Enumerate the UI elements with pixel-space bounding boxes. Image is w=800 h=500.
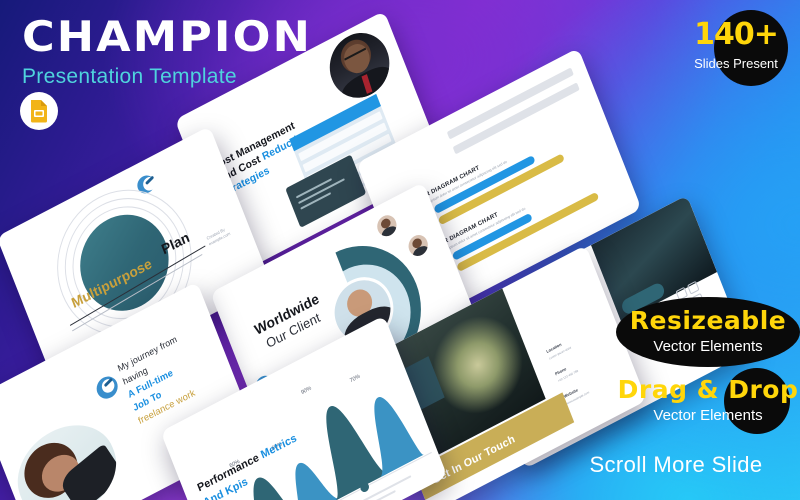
badge-resizeable: Resizeable Vector Elements xyxy=(616,297,800,367)
badge-drag-drop-sub: Vector Elements xyxy=(616,408,800,423)
badge-resizeable-sub: Vector Elements xyxy=(616,339,800,354)
badge-count-sub: Slides Present xyxy=(672,57,800,70)
badge-slides-count: 140+ Slides Present xyxy=(672,6,800,92)
badge-count-headline: 140+ xyxy=(672,6,800,50)
page-title: CHAMPION xyxy=(22,16,312,58)
brand-swoosh-icon-3 xyxy=(93,369,126,405)
brand-block: CHAMPION Presentation Template xyxy=(22,16,296,89)
google-slides-icon xyxy=(20,92,58,130)
perf-label-3: 90% xyxy=(300,385,312,396)
scroll-more-hint: Scroll More Slide xyxy=(560,452,792,478)
journey-photo xyxy=(5,408,128,500)
client-avatar-1 xyxy=(372,209,402,243)
page-subtitle: Presentation Template xyxy=(22,65,296,89)
bar-chart-sub-1: Lorem ipsum dolor sit amet consectetur a… xyxy=(420,160,508,209)
badge-drag-drop: Drag & Drop Vector Elements xyxy=(616,368,800,434)
client-avatar-2 xyxy=(403,229,433,263)
speaker-portrait xyxy=(321,22,399,109)
badge-resizeable-headline: Resizeable xyxy=(616,297,800,333)
badge-drag-drop-headline: Drag & Drop xyxy=(616,368,800,402)
slides-doc-glyph xyxy=(29,99,49,123)
